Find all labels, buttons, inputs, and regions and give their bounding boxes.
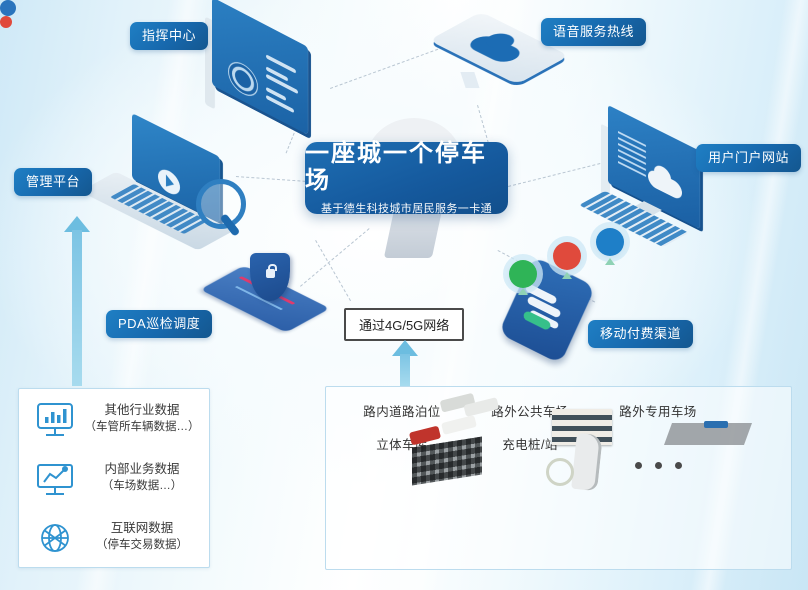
monitor-bar-chart-icon (33, 400, 75, 438)
monitor-line-chart-icon (33, 459, 75, 497)
unionpay-badge (596, 228, 624, 256)
magnifier-icon (196, 179, 246, 229)
data-source-row: 内部业务数据 （车场数据…） (19, 448, 209, 507)
data-source-detail: （停车交易数据） (83, 537, 201, 554)
label-management-platform[interactable]: 管理平台 (14, 168, 92, 196)
pda-device-icon (222, 253, 332, 331)
scene-tile-dedicated-lot[interactable]: 路外专用车场 (602, 395, 714, 420)
wechat-pay-badge (509, 260, 537, 288)
management-platform-laptop-icon (92, 135, 242, 245)
phone-alert-icon (0, 16, 12, 28)
data-source-title: 其他行业数据 (83, 401, 201, 419)
connector-dashed (508, 162, 605, 187)
scene-caption: 路内道路泊位 (346, 401, 458, 420)
data-source-row: 其他行业数据 （车管所车辆数据…） (19, 389, 209, 448)
data-sources-panel: 其他行业数据 （车管所车辆数据…） 内部业务数据 （车场数据…） (18, 388, 210, 568)
network-box: 通过4G/5G网络 (344, 308, 464, 341)
arrow-up-to-network (392, 340, 418, 386)
arrow-up-small (605, 258, 615, 265)
globe-network-icon (33, 518, 75, 556)
connector-dashed (236, 176, 316, 183)
data-source-detail: （车场数据…） (83, 478, 201, 495)
phone-app-icon (0, 0, 16, 16)
label-command-center[interactable]: 指挥中心 (130, 22, 208, 50)
arrow-up-small (518, 288, 528, 295)
central-banner: 一座城一个停车场 基于德生科技城市居民服务一卡通 (305, 142, 508, 214)
lock-icon (266, 269, 275, 278)
scene-caption: 路外专用车场 (602, 401, 714, 420)
banner-title: 一座城一个停车场 (305, 140, 508, 193)
parking-scenes-panel: 路内道路泊位 路外公共车场 路外专用车场 立体车库 充电桩 (325, 386, 792, 570)
data-source-title: 内部业务数据 (83, 460, 201, 478)
label-pda-patrol[interactable]: PDA巡检调度 (106, 310, 212, 338)
diagram-canvas: 一座城一个停车场 基于德生科技城市居民服务一卡通 指挥中心 语音服务热线 管理平… (0, 0, 808, 590)
banner-subtitle: 基于德生科技城市居民服务一卡通 (321, 200, 492, 216)
data-source-title: 互联网数据 (83, 519, 201, 537)
data-source-detail: （车管所车辆数据…） (83, 419, 201, 436)
scene-tile-street-parking[interactable]: 路内道路泊位 (346, 395, 458, 420)
label-user-portal[interactable]: 用户门户网站 (696, 144, 801, 172)
label-mobile-payment[interactable]: 移动付费渠道 (588, 320, 693, 348)
connector-dashed (330, 44, 453, 89)
scene-tile-public-lot[interactable]: 路外公共车场 (474, 395, 586, 420)
scene-tile-multilevel-garage[interactable]: 立体车库 (346, 428, 458, 502)
data-source-row: 互联网数据 （停车交易数据） (19, 507, 209, 566)
label-voice-hotline[interactable]: 语音服务热线 (541, 18, 646, 46)
alipay-badge (553, 242, 581, 270)
arrow-up-small (562, 272, 572, 279)
arrow-up-to-management (64, 216, 90, 386)
scene-row: 路内道路泊位 路外公共车场 路外专用车场 (346, 395, 776, 420)
command-center-monitor-icon (212, 22, 332, 132)
